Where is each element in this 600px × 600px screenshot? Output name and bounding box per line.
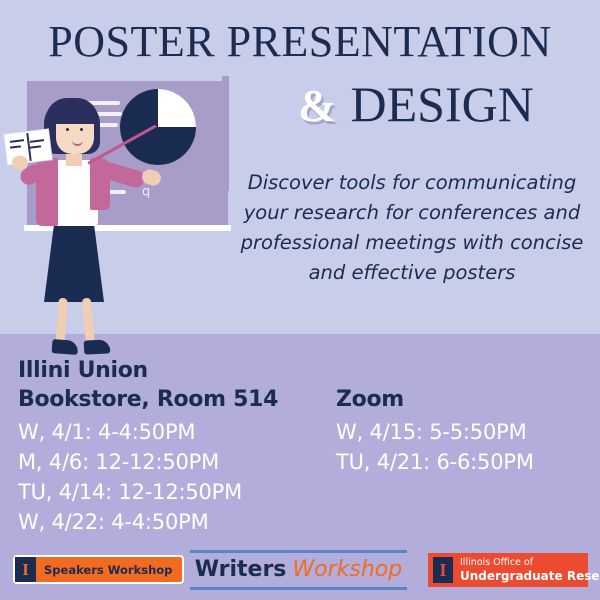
session-time: M, 4/6: 12-12:50PM — [18, 447, 338, 477]
session-time: W, 4/15: 5-5:50PM — [336, 417, 592, 447]
schedule-column-venue: Illini Union Bookstore, Room 514 W, 4/1:… — [18, 356, 338, 537]
session-time: W, 4/1: 4-4:50PM — [18, 417, 338, 447]
venue-name-zoom: Zoom — [336, 385, 592, 414]
logo-writers-word: Writers — [195, 557, 287, 582]
logo-department-line: Undergraduate Research — [460, 569, 600, 583]
presenter-hand-left — [12, 156, 28, 170]
ampersand-glyph: & — [298, 80, 336, 131]
logo-workshop-word: Workshop — [292, 557, 402, 582]
venue-name-line-2: Bookstore, Room 514 — [18, 385, 338, 414]
logo-office-line: Illinois Office of — [460, 557, 600, 569]
presenter-eye-right — [80, 128, 83, 131]
page-title-line-2: &DESIGN — [236, 76, 596, 134]
venue-name-line-1: Illini Union — [18, 356, 338, 385]
presenter-shoe-left — [52, 339, 79, 355]
session-time: W, 4/22: 4-4:50PM — [18, 507, 338, 537]
logo-undergraduate-research-text: Illinois Office of Undergraduate Researc… — [460, 557, 600, 583]
poster-canvas: POSTER PRESENTATION &DESIGN Discover too… — [0, 0, 600, 600]
logo-speakers-workshop[interactable]: I Speakers Workshop — [13, 555, 184, 584]
presenter-hair-top — [46, 98, 98, 124]
description-text: Discover tools for communicating your re… — [228, 168, 596, 288]
logo-writers-workshop[interactable]: WritersWorkshop — [190, 550, 407, 590]
session-time: TU, 4/21: 6-6:50PM — [336, 447, 592, 477]
presenter-shoe-right — [84, 339, 111, 354]
session-time: TU, 4/14: 12-12:50PM — [18, 477, 338, 507]
board-mark-bottom: d — [142, 184, 150, 199]
presenter-illustration: a d — [0, 70, 240, 360]
page-title-design-word: DESIGN — [351, 76, 534, 132]
illinois-block-i-icon: I — [433, 557, 453, 583]
block-i-letter: I — [439, 561, 446, 579]
footer-logo-bar: I Speakers Workshop WritersWorkshop I Il… — [0, 545, 600, 600]
logo-undergraduate-research[interactable]: I Illinois Office of Undergraduate Resea… — [428, 553, 588, 587]
presenter-eye-left — [66, 128, 69, 131]
logo-speakers-workshop-label: Speakers Workshop — [44, 563, 172, 577]
presenter-eyebrow-right — [78, 122, 85, 124]
presenter-eyebrow-left — [64, 122, 71, 124]
schedule-column-zoom: Zoom W, 4/15: 5-5:50PM TU, 4/21: 6-6:50P… — [336, 385, 592, 477]
illinois-block-i-icon: I — [15, 557, 36, 582]
block-i-letter: I — [22, 561, 29, 578]
page-title-line-1: POSTER PRESENTATION — [0, 18, 600, 66]
